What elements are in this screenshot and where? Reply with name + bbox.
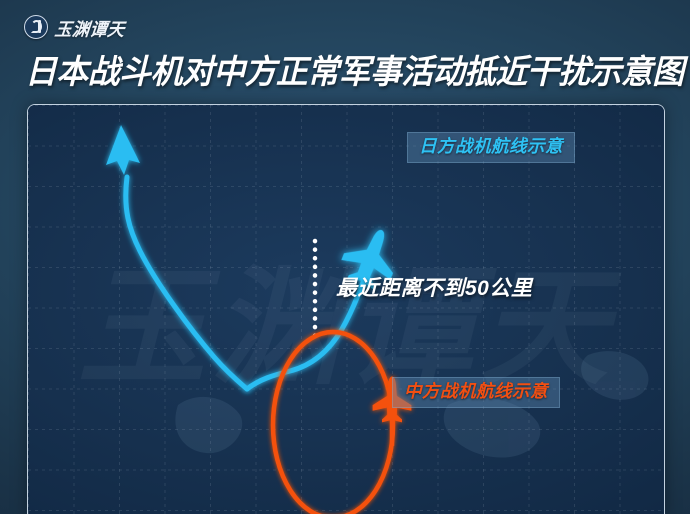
arrow-head-icon xyxy=(106,125,140,175)
distance-label: 最近距离不到50公里 xyxy=(336,272,532,302)
page-title: 日本战斗机对中方正常军事活动抵近干扰示意图 xyxy=(25,45,684,93)
brand-logo-text: 玉渊谭天 xyxy=(54,14,127,40)
circle-brand-icon xyxy=(24,15,48,39)
china-route-badge: 中方战机航线示意 xyxy=(392,377,560,408)
japan-flight-route xyxy=(106,125,370,389)
infographic-root: 玉渊谭天 日本战斗机对中方正常军事活动抵近干扰示意图 玉渊谭天 xyxy=(0,0,690,514)
japan-route-badge: 日方战机航线示意 xyxy=(407,132,575,163)
brand-logo: 玉渊谭天 xyxy=(24,14,125,40)
header: 玉渊谭天 日本战斗机对中方正常军事活动抵近干扰示意图 xyxy=(0,0,690,105)
map-panel: 玉渊谭天 xyxy=(27,104,665,514)
routes-overlay xyxy=(28,105,664,514)
china-flight-route xyxy=(273,332,393,514)
